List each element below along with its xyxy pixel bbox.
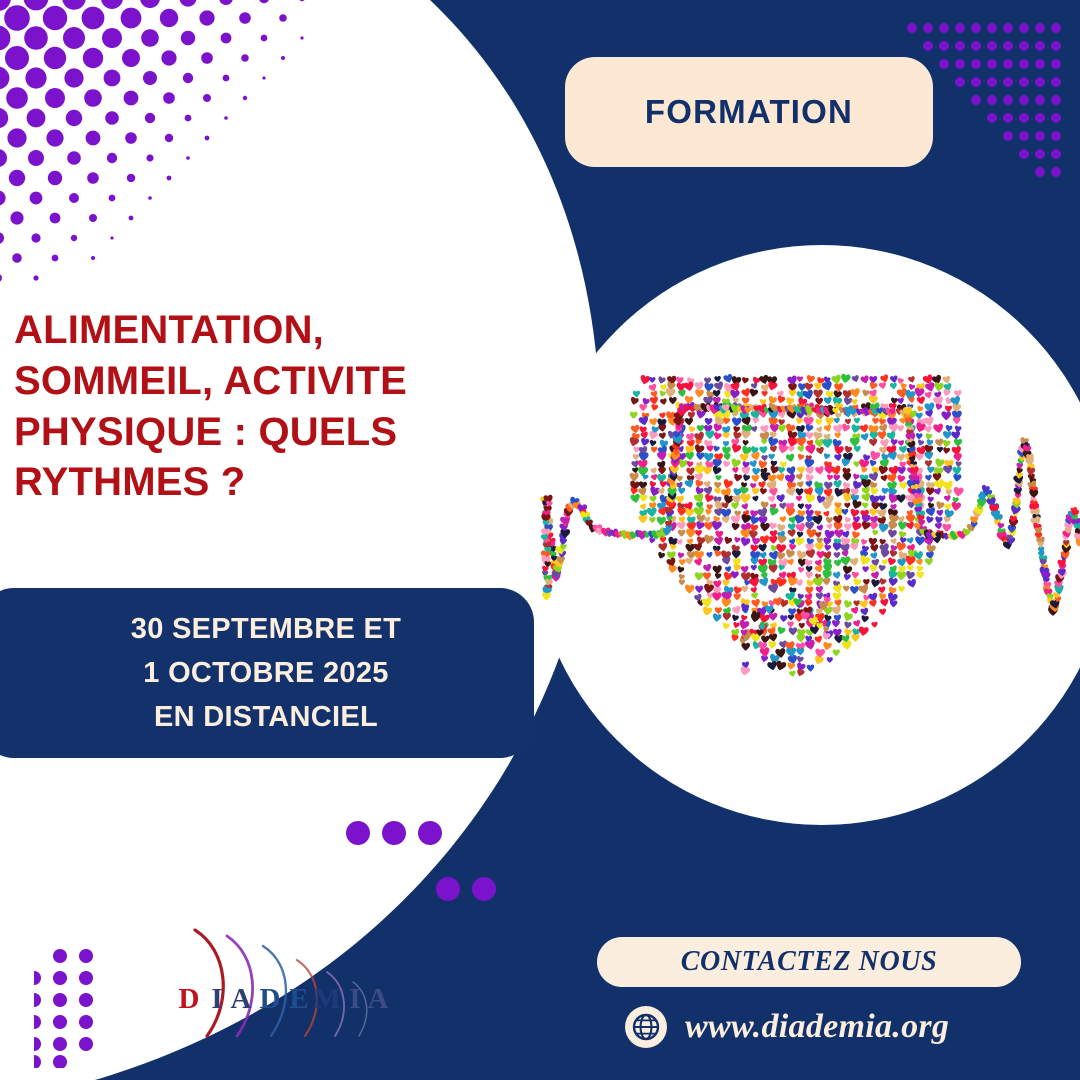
formation-badge[interactable]: FORMATION bbox=[565, 57, 933, 167]
poster-canvas: FORMATION ALIMENTATION, SOMMEIL, ACTIVIT… bbox=[0, 0, 1080, 1080]
dot-grid bbox=[34, 948, 144, 1068]
floating-dots bbox=[340, 815, 520, 915]
svg-text:D: D bbox=[179, 983, 200, 1015]
svg-text:M: M bbox=[313, 983, 340, 1015]
contact-pill[interactable]: CONTACTEZ NOUS bbox=[597, 937, 1021, 987]
date-line-2: 1 OCTOBRE 2025 bbox=[143, 651, 388, 695]
halftone-dot-gradient bbox=[0, 0, 324, 292]
svg-text:E: E bbox=[289, 983, 308, 1015]
svg-text:A: A bbox=[231, 983, 252, 1015]
svg-text:I: I bbox=[349, 983, 360, 1015]
title-line-2: SOMMEIL, ACTIVITE bbox=[14, 356, 514, 407]
page-title: ALIMENTATION, SOMMEIL, ACTIVITE PHYSIQUE… bbox=[14, 305, 514, 508]
website-url: www.diademia.org bbox=[685, 1008, 949, 1046]
diademia-logo: D I A D E M I A bbox=[175, 928, 410, 1038]
contact-pill-label: CONTACTEZ NOUS bbox=[681, 946, 938, 978]
date-line-1: 30 SEPTEMBRE ET bbox=[131, 607, 401, 651]
title-line-1: ALIMENTATION, bbox=[14, 305, 514, 356]
title-line-4: RYTHMES ? bbox=[14, 457, 514, 508]
globe-icon bbox=[625, 1006, 667, 1048]
svg-text:I: I bbox=[211, 983, 222, 1015]
title-line-3: PHYSIQUE : QUELS bbox=[14, 407, 514, 458]
formation-badge-label: FORMATION bbox=[645, 93, 853, 131]
website-row[interactable]: www.diademia.org bbox=[625, 1006, 949, 1048]
event-date-box: 30 SEPTEMBRE ET 1 OCTOBRE 2025 EN DISTAN… bbox=[0, 588, 534, 758]
heartbeat-ecg-heart-artwork bbox=[535, 350, 1080, 720]
date-line-3: EN DISTANCIEL bbox=[154, 695, 378, 739]
svg-text:A: A bbox=[368, 983, 389, 1015]
svg-text:D: D bbox=[260, 983, 281, 1015]
